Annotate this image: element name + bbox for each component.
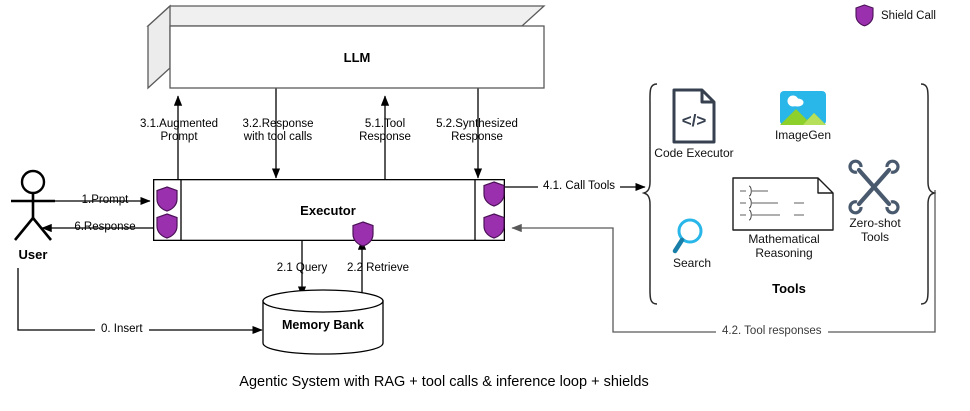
edge-label-insert: 0. Insert bbox=[95, 323, 149, 336]
actor-leg-right bbox=[33, 218, 51, 240]
shield-icon bbox=[855, 4, 874, 27]
cylinder-top bbox=[263, 290, 383, 312]
llm-top-face bbox=[148, 6, 544, 26]
tools-group-label: Tools bbox=[732, 282, 846, 295]
user-label: User bbox=[0, 248, 66, 261]
memory-bank-node[interactable]: Memory Bank bbox=[262, 288, 384, 356]
edge-label-call-tools: 4.1. Call Tools bbox=[538, 180, 620, 193]
llm-label: LLM bbox=[170, 26, 544, 88]
executor-label: Executor bbox=[181, 179, 475, 241]
actor-leg-left bbox=[15, 218, 33, 240]
crossed-wrenches-icon[interactable] bbox=[848, 160, 900, 214]
formula-document-icon[interactable] bbox=[732, 177, 834, 231]
magnifier-icon[interactable] bbox=[673, 217, 709, 255]
edge-label-retrieve: 2.2 Retrieve bbox=[336, 262, 420, 275]
edge-label-synthesized-response: 5.2.Synthesized Response bbox=[428, 118, 526, 144]
user-node[interactable] bbox=[5, 170, 61, 242]
shield-icon-executor-tools-out bbox=[483, 181, 505, 207]
llm-side-face bbox=[148, 6, 170, 88]
tool-label-imagegen: ImageGen bbox=[757, 128, 849, 142]
left-brace-icon bbox=[644, 84, 657, 304]
shield-icon-executor-memory bbox=[352, 221, 374, 247]
tool-label-zero-shot-tools: Zero-shot Tools bbox=[834, 216, 916, 244]
shield-icon-executor-out-bottom bbox=[156, 213, 178, 239]
memory-bank-label: Memory Bank bbox=[262, 310, 384, 340]
tool-label-code-executor: Code Executor bbox=[646, 146, 742, 160]
edge-label-prompt: 1.Prompt bbox=[60, 194, 150, 207]
llm-node[interactable]: LLM bbox=[148, 4, 548, 90]
diagram-caption: Agentic System with RAG + tool calls & i… bbox=[0, 374, 888, 390]
edge-label-response-tool-calls: 3.2.Response with tool calls bbox=[232, 118, 324, 144]
edge-label-augmented-prompt: 3.1.Augmented Prompt bbox=[136, 118, 222, 144]
edge-label-tool-responses: 4.2. Tool responses bbox=[716, 325, 828, 338]
tool-label-search: Search bbox=[655, 256, 729, 270]
shield-icon-executor-in-top bbox=[156, 186, 178, 212]
edge-label-query: 2.1 Query bbox=[264, 262, 340, 275]
legend-shield-call: Shield Call bbox=[855, 4, 936, 27]
executor-node[interactable]: Executor bbox=[153, 179, 505, 241]
edge-insert bbox=[18, 268, 262, 330]
svg-text:</>: </> bbox=[682, 111, 707, 130]
edge-label-response: 6.Response bbox=[55, 221, 155, 234]
shield-icon-executor-tools-in bbox=[483, 213, 505, 239]
edge-label-tool-response: 5.1.Tool Response bbox=[345, 118, 425, 144]
tool-label-mathematical-reasoning: Mathematical Reasoning bbox=[728, 232, 840, 260]
legend-label: Shield Call bbox=[881, 10, 936, 22]
actor-head bbox=[22, 171, 44, 193]
image-icon[interactable] bbox=[779, 90, 827, 126]
right-brace-icon bbox=[921, 84, 934, 304]
code-document-icon[interactable]: </> bbox=[672, 88, 716, 144]
diagram-canvas: LLM Executor Memory Bank User bbox=[0, 0, 970, 411]
